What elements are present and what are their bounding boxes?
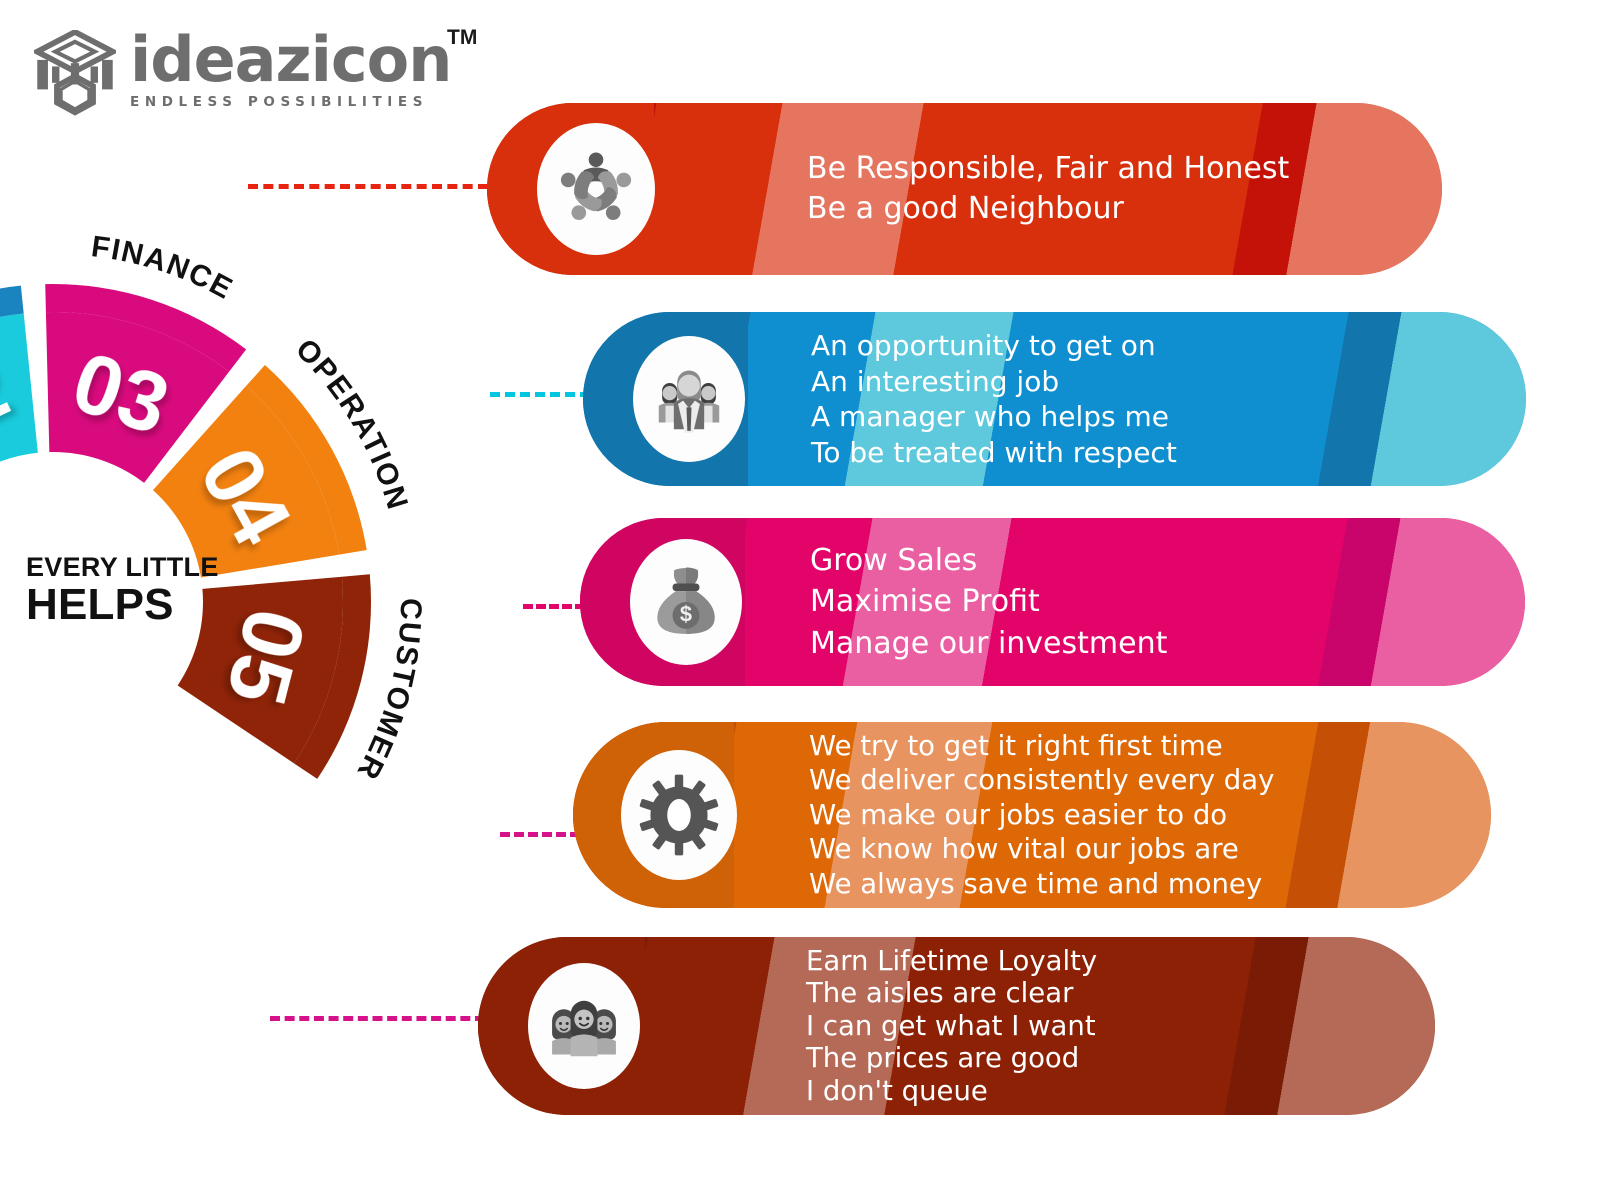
bar-line: The aisles are clear bbox=[806, 977, 1097, 1010]
info-bar-people[interactable]: An opportunity to get onAn interesting j… bbox=[583, 312, 1526, 486]
bar-line: We deliver consistently every day bbox=[809, 763, 1274, 798]
bar-line: Be Responsible, Fair and Honest bbox=[807, 149, 1289, 189]
bar-line: Grow Sales bbox=[810, 540, 1167, 582]
brand-name: ideazicon bbox=[130, 30, 451, 90]
connector-customer bbox=[270, 1016, 485, 1021]
bar-icon-wrap bbox=[537, 123, 655, 255]
trademark-symbol: TM bbox=[447, 26, 477, 50]
brand-logo: ideazicon ENDLESS POSSIBILITIES TM bbox=[34, 30, 451, 116]
people-circle-icon bbox=[537, 123, 655, 255]
bar-line: Earn Lifetime Loyalty bbox=[806, 945, 1097, 978]
bar-line: An opportunity to get on bbox=[811, 328, 1177, 364]
info-bar-customer[interactable]: Earn Lifetime LoyaltyThe aisles are clea… bbox=[478, 937, 1435, 1115]
bar-line: I don't queue bbox=[806, 1075, 1097, 1108]
bar-line: Be a good Neighbour bbox=[807, 189, 1289, 229]
bar-line: We make our jobs easier to do bbox=[809, 798, 1274, 833]
connector-operations bbox=[500, 832, 580, 837]
bar-line: Maximise Profit bbox=[810, 581, 1167, 623]
bar-text-block: Be Responsible, Fair and HonestBe a good… bbox=[807, 149, 1289, 229]
bar-line: The prices are good bbox=[806, 1042, 1097, 1075]
bar-line: We always save time and money bbox=[809, 867, 1274, 902]
gear-icon bbox=[621, 750, 737, 880]
bar-line: An interesting job bbox=[811, 364, 1177, 400]
bar-line: Manage our investment bbox=[810, 623, 1167, 665]
connector-people bbox=[490, 392, 590, 397]
bar-icon-wrap bbox=[633, 336, 745, 462]
bar-text-block: We try to get it right first timeWe deli… bbox=[809, 729, 1274, 902]
bar-icon-wrap bbox=[621, 750, 737, 880]
brand-tagline: ENDLESS POSSIBILITIES bbox=[130, 94, 451, 110]
bar-text-block: Earn Lifetime LoyaltyThe aisles are clea… bbox=[806, 945, 1097, 1108]
bar-text-block: Grow SalesMaximise ProfitManage our inve… bbox=[810, 540, 1167, 665]
bar-text-block: An opportunity to get onAn interesting j… bbox=[811, 328, 1177, 470]
connector-finance bbox=[523, 604, 585, 609]
center-label-line2: HELPS bbox=[26, 582, 286, 628]
info-bar-community[interactable]: Be Responsible, Fair and HonestBe a good… bbox=[487, 103, 1442, 275]
center-label: EVERY LITTLE HELPS bbox=[26, 552, 286, 628]
info-bar-finance[interactable]: $ Grow SalesMaximise ProfitManage our in… bbox=[580, 518, 1525, 686]
donut-segment-people[interactable]: 02 bbox=[0, 286, 38, 496]
money-bag-icon: $ bbox=[630, 539, 742, 665]
bar-line: I can get what I want bbox=[806, 1010, 1097, 1043]
bar-line: We know how vital our jobs are bbox=[809, 832, 1274, 867]
svg-text:$: $ bbox=[680, 601, 692, 626]
connector-community bbox=[248, 184, 488, 189]
group-of-people-icon bbox=[633, 336, 745, 462]
bar-line: We try to get it right first time bbox=[809, 729, 1274, 764]
bar-line: A manager who helps me bbox=[811, 399, 1177, 435]
bar-line: To be treated with respect bbox=[811, 435, 1177, 471]
center-label-line1: EVERY LITTLE bbox=[26, 552, 286, 582]
cube-logo-icon bbox=[34, 30, 116, 116]
three-customers-icon bbox=[528, 963, 640, 1089]
bar-icon-wrap: $ bbox=[630, 539, 742, 665]
bar-icon-wrap bbox=[528, 963, 640, 1089]
info-bar-operations[interactable]: We try to get it right first timeWe deli… bbox=[573, 722, 1491, 908]
